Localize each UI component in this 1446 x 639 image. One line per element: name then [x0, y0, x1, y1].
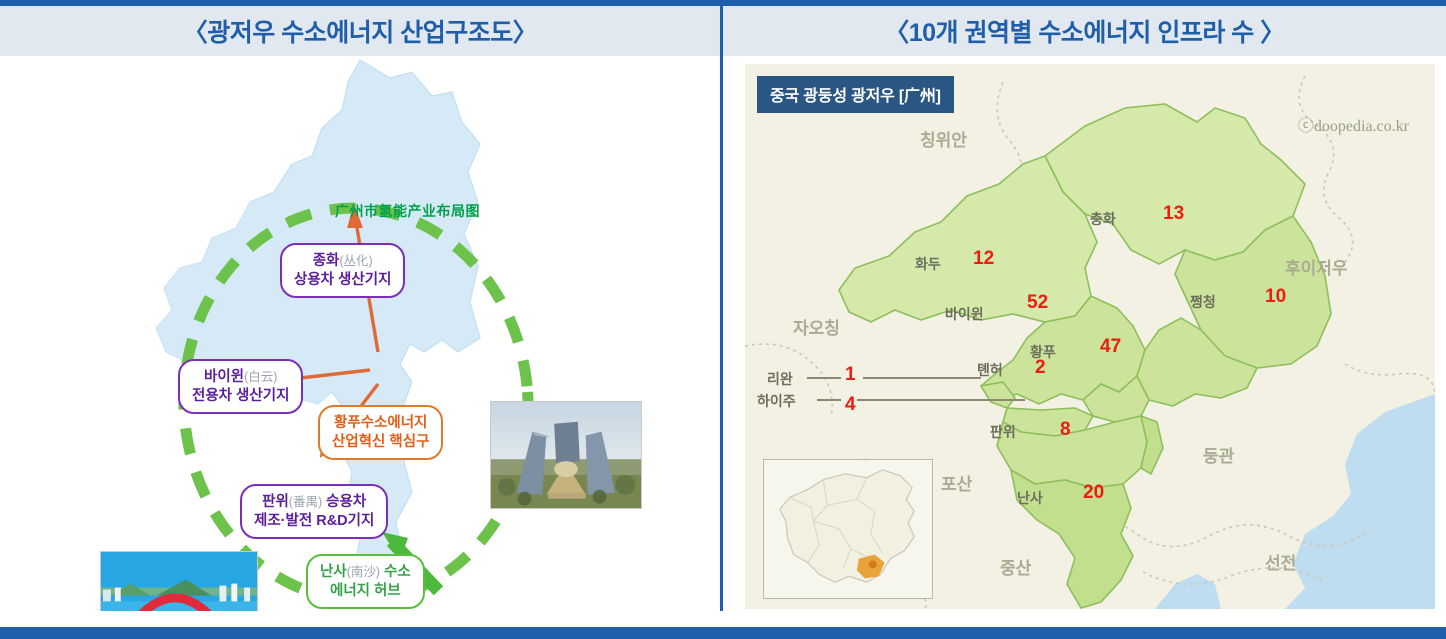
node-nansha-line2: 에너지 허브 [320, 582, 411, 601]
node-baiyun-line1: 바이윈(白云) [192, 368, 289, 387]
left-panel-title: 〈광저우 수소에너지 산업구조도〉 [183, 13, 537, 49]
district-value-tianhe: 2 [1035, 357, 1046, 379]
china-locator-inset-map [763, 459, 933, 599]
node-panyu-line2: 제조·발전 R&D기지 [254, 512, 374, 531]
header-row: 〈광저우 수소에너지 산업구조도〉 〈10개 권역별 수소에너지 인프라 수 〉 [0, 0, 1446, 56]
node-conghua-line2: 상용차 생산기지 [294, 271, 391, 290]
map-title-plate: 중국 광둥성 광저우 [广州] [757, 76, 954, 113]
guangzhou-industry-diagram: 广州市氢能产业布局图 종화(丛化) 상용차 생산기지 바이윈(白云) 전용차 생… [0, 56, 720, 611]
district-value-nansha: 20 [1083, 482, 1104, 504]
leader-line-haizhu-left [817, 399, 841, 401]
district-label-liwan: 리완 [767, 369, 793, 389]
node-conghua-line1: 종화(丛化) [294, 252, 391, 271]
district-value-panyu: 8 [1060, 419, 1071, 441]
node-panyu-line1: 판위(番禺) 승용차 [254, 493, 374, 512]
city-label-huizhou: 후이저우 [1285, 254, 1348, 279]
district-value-haizhu: 4 [845, 394, 856, 416]
header-cell-left: 〈광저우 수소에너지 산업구조도〉 [0, 0, 723, 56]
node-huangpu-line1: 황푸수소에너지 [332, 414, 429, 433]
city-label-zhongshan: 중산 [1000, 554, 1031, 579]
node-nansha-line1: 난사(南沙) 수소 [320, 563, 411, 582]
leader-line-haizhu-right [857, 399, 1025, 401]
nansha-red-arch-bridge-photo [100, 551, 258, 611]
district-value-baiyun: 52 [1027, 292, 1048, 314]
city-label-foshan: 포산 [941, 470, 972, 495]
city-label-dongguan: 둥관 [1203, 442, 1234, 467]
body-row: 广州市氢能产业布局图 종화(丛化) 상용차 생산기지 바이윈(白云) 전용차 생… [0, 56, 1446, 611]
city-label-zhaoqing: 자오칭 [793, 314, 840, 339]
district-value-huadu: 12 [973, 248, 994, 270]
node-baiyun-line2: 전용차 생산기지 [192, 387, 289, 406]
right-panel: 중국 광둥성 광저우 [广州] ⓒdoopedia.co.kr 칭위안 후이저우… [723, 56, 1446, 611]
district-label-zengcheng: 쩡청 [1190, 292, 1216, 312]
district-label-baiyun: 바이윈 [945, 304, 984, 324]
node-panyu[interactable]: 판위(番禺) 승용차 제조·발전 R&D기지 [240, 484, 388, 539]
district-value-zengcheng: 10 [1265, 286, 1286, 308]
city-label-qingyuan: 칭위안 [920, 126, 967, 151]
left-panel: 广州市氢能产业布局图 종화(丛化) 상용차 생산기지 바이윈(白云) 전용차 생… [0, 56, 723, 611]
city-label-shenzhen: 선전 [1265, 549, 1296, 574]
leader-line-liwan-left [807, 377, 841, 379]
district-label-haizhu: 하이주 [757, 391, 796, 411]
node-huangpu-line2: 산업혁신 핵심구 [332, 433, 429, 452]
diagram-caption-chinese: 广州市氢能产业布局图 [335, 201, 480, 221]
district-label-conghua: 충화 [1090, 209, 1116, 229]
right-panel-title: 〈10개 권역별 수소에너지 인프라 수 〉 [884, 13, 1285, 49]
district-label-huadu: 화두 [915, 254, 941, 274]
guangzhou-district-map: 중국 광둥성 광저우 [广州] ⓒdoopedia.co.kr 칭위안 후이저우… [745, 64, 1435, 609]
district-value-huangpu: 47 [1100, 336, 1121, 358]
leader-line-liwan-right [863, 377, 981, 379]
page-root: 〈광저우 수소에너지 산업구조도〉 〈10개 권역별 수소에너지 인프라 수 〉 [0, 0, 1446, 639]
district-label-panyu: 판위 [990, 422, 1016, 442]
node-conghua[interactable]: 종화(丛化) 상용차 생산기지 [280, 243, 405, 298]
district-value-liwan: 1 [845, 364, 856, 386]
district-value-conghua: 13 [1163, 203, 1184, 225]
district-label-nansha: 난사 [1017, 488, 1043, 508]
footer-accent-bar [0, 627, 1446, 639]
node-baiyun[interactable]: 바이윈(白云) 전용차 생산기지 [178, 359, 303, 414]
node-huangpu-core[interactable]: 황푸수소에너지 산업혁신 핵심구 [318, 405, 443, 460]
header-cell-right: 〈10개 권역별 수소에너지 인프라 수 〉 [723, 0, 1446, 56]
copyright-label: ⓒdoopedia.co.kr [1298, 112, 1409, 136]
huangpu-district-building-rendering [490, 401, 642, 509]
node-nansha[interactable]: 난사(南沙) 수소 에너지 허브 [306, 554, 425, 609]
